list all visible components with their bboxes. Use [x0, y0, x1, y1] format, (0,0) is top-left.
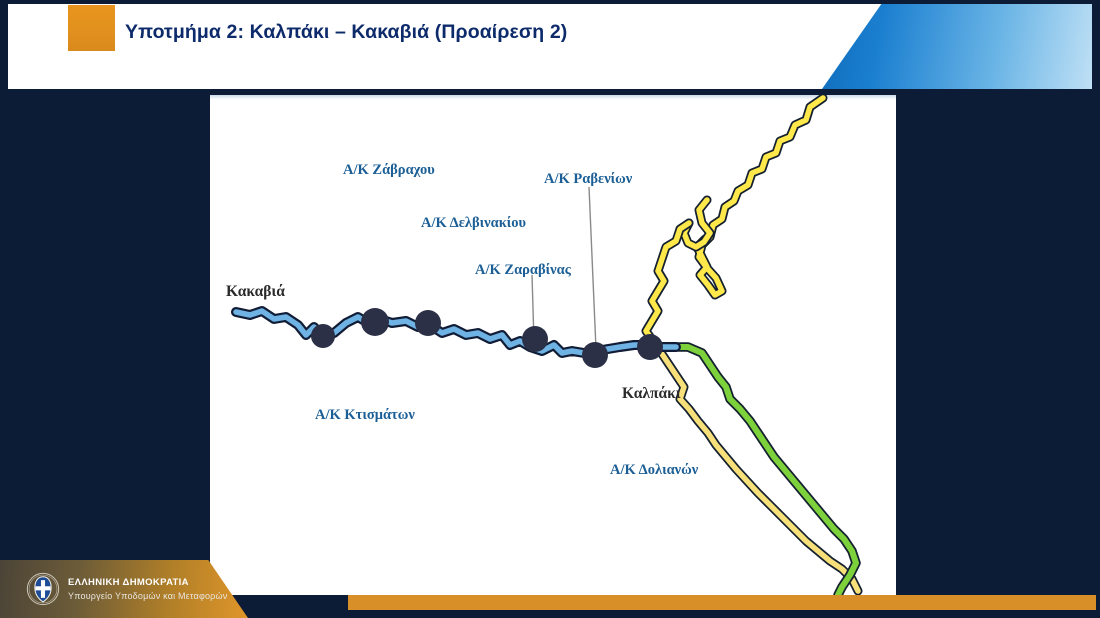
title-accent-square — [68, 5, 115, 51]
junction-dot-kalpaki — [637, 334, 663, 360]
footer-organization: ΕΛΛΗΝΙΚΗ ΔΗΜΟΚΡΑΤΙΑ — [68, 577, 189, 588]
junction-dot-ravenion — [582, 342, 608, 368]
route-map-graphic — [210, 95, 896, 595]
map-label-delvinakiou: Α/Κ Δελβινακίου — [421, 215, 526, 232]
map-label-zavrachou: Α/Κ Ζάβραχου — [343, 162, 435, 179]
highlighted-route-blue — [236, 311, 676, 353]
junction-dot-zaravinas — [522, 326, 548, 352]
junction-dot-ktismaton — [311, 324, 335, 348]
map-label-ravenion: Α/Κ Ραβενίων — [544, 171, 632, 188]
footer-orange-bar — [348, 595, 1096, 610]
junction-dot-delvinakiou — [415, 310, 441, 336]
page-title: Υποτμήμα 2: Καλπάκι – Κακαβιά (Προαίρεση… — [125, 21, 567, 44]
map-label-dolianon: Α/Κ Δολιανών — [610, 462, 698, 479]
map-label-kalpaki: Καλπάκι — [622, 385, 681, 403]
greek-coat-of-arms-icon — [26, 572, 60, 606]
header-accent-wedge — [822, 4, 1092, 89]
leader-line-ravenion — [589, 187, 596, 349]
slide-canvas: Υποτμήμα 2: Καλπάκι – Κακαβιά (Προαίρεση… — [0, 0, 1100, 618]
existing-road-yellow-mid — [646, 223, 689, 351]
map-label-kakavia: Κακαβιά — [226, 283, 285, 301]
footer-ministry: Υπουργείο Υποδομών και Μεταφορών — [68, 591, 227, 601]
existing-road-yellow-north — [697, 98, 823, 295]
map-panel: Α/Κ Ζάβραχου Α/Κ Ραβενίων Α/Κ Δελβινακίο… — [210, 95, 896, 595]
map-label-ktismaton: Α/Κ Κτισμάτων — [315, 407, 415, 424]
slide-header: Υποτμήμα 2: Καλπάκι – Κακαβιά (Προαίρεση… — [8, 4, 1092, 89]
footer-branding-band: ΕΛΛΗΝΙΚΗ ΔΗΜΟΚΡΑΤΙΑ Υπουργείο Υποδομών κ… — [0, 560, 248, 618]
map-label-zaravinas: Α/Κ Ζαραβίνας — [475, 262, 571, 279]
junction-dot-zavrachou — [361, 308, 389, 336]
